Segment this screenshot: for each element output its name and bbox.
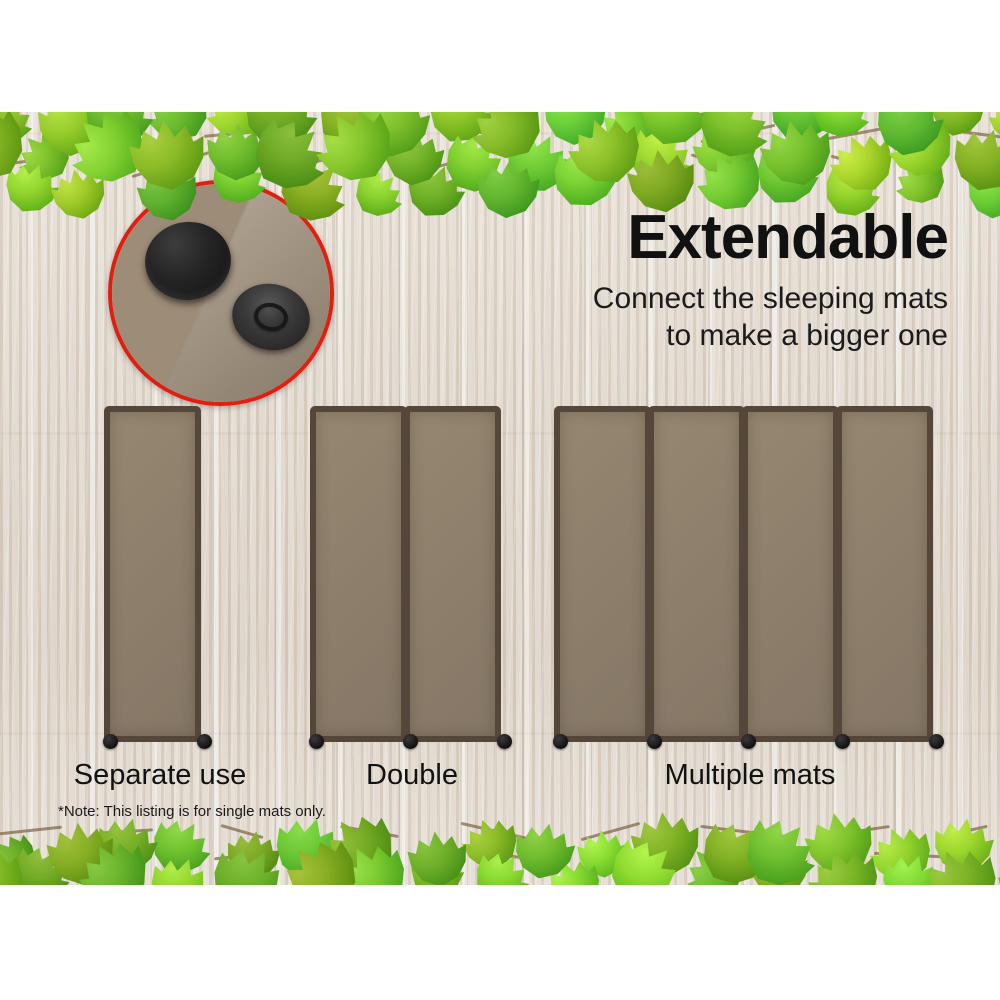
snap-dot-icon	[647, 734, 662, 749]
subtitle-line-2: to make a bigger one	[666, 319, 948, 352]
mat-group-multiple	[554, 406, 933, 742]
snap-button-closeup-inset	[108, 180, 334, 406]
product-infographic-photo: Extendable Connect the sleeping mats to …	[0, 112, 1000, 885]
disclaimer-note: *Note: This listing is for single mats o…	[58, 803, 326, 820]
snap-dot-icon	[929, 734, 944, 749]
subtitle-line-1: Connect the sleeping mats	[593, 282, 948, 315]
snap-dot-icon	[403, 734, 418, 749]
mat-panel	[648, 406, 745, 742]
mat-panel	[404, 406, 501, 742]
mat-panel	[104, 406, 201, 742]
caption-separate-use: Separate use	[40, 759, 280, 792]
snap-dot-icon	[497, 734, 512, 749]
caption-multiple-mats: Multiple mats	[540, 759, 960, 792]
mat-group-double	[310, 406, 501, 742]
mat-panel	[836, 406, 933, 742]
mat-panel	[742, 406, 839, 742]
snap-dot-icon	[197, 734, 212, 749]
snap-dot-icon	[309, 734, 324, 749]
caption-double: Double	[300, 759, 524, 792]
heading-block: Extendable Connect the sleeping mats to …	[593, 207, 948, 354]
snap-dot-icon	[741, 734, 756, 749]
page-title: Extendable	[593, 207, 948, 269]
mat-panel	[554, 406, 651, 742]
snap-dot-icon	[553, 734, 568, 749]
snap-dot-icon	[835, 734, 850, 749]
snap-dot-icon	[103, 734, 118, 749]
mat-panel	[310, 406, 407, 742]
mat-group-separate	[104, 406, 201, 742]
page-subtitle: Connect the sleeping mats to make a bigg…	[593, 281, 948, 354]
